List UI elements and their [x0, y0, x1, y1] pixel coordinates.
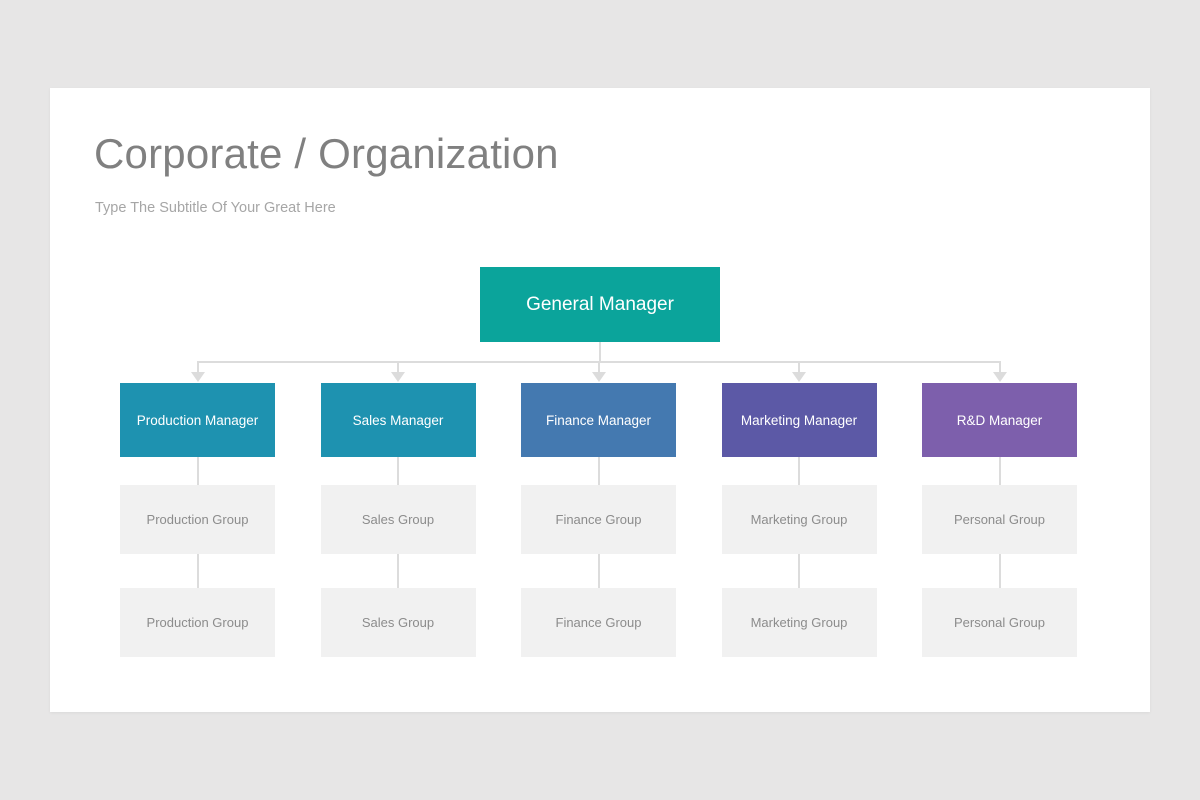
- node-manager[interactable]: Finance Manager: [521, 383, 676, 457]
- connector-manager-group: [197, 457, 199, 485]
- node-group[interactable]: Finance Group: [521, 588, 676, 657]
- arrow-down-icon: [592, 372, 606, 382]
- slide-card: Corporate / Organization Type The Subtit…: [50, 88, 1150, 712]
- arrow-down-icon: [993, 372, 1007, 382]
- node-group[interactable]: Sales Group: [321, 588, 476, 657]
- node-group[interactable]: Production Group: [120, 485, 275, 554]
- node-manager[interactable]: Marketing Manager: [722, 383, 877, 457]
- node-manager[interactable]: Production Manager: [120, 383, 275, 457]
- connector-manager-group: [999, 457, 1001, 485]
- node-group[interactable]: Production Group: [120, 588, 275, 657]
- arrow-down-icon: [792, 372, 806, 382]
- connector-manager-group: [397, 457, 399, 485]
- connector-root-stem: [599, 342, 601, 361]
- connector-group-group: [999, 554, 1001, 588]
- node-group[interactable]: Personal Group: [922, 588, 1077, 657]
- node-general-manager[interactable]: General Manager: [480, 267, 720, 342]
- node-group[interactable]: Sales Group: [321, 485, 476, 554]
- arrow-down-icon: [191, 372, 205, 382]
- node-manager[interactable]: R&D Manager: [922, 383, 1077, 457]
- node-group[interactable]: Finance Group: [521, 485, 676, 554]
- node-manager[interactable]: Sales Manager: [321, 383, 476, 457]
- node-group[interactable]: Marketing Group: [722, 588, 877, 657]
- node-group[interactable]: Marketing Group: [722, 485, 877, 554]
- arrow-down-icon: [391, 372, 405, 382]
- org-chart: General ManagerProduction ManagerProduct…: [50, 88, 1150, 712]
- connector-group-group: [798, 554, 800, 588]
- connector-manager-group: [798, 457, 800, 485]
- node-group[interactable]: Personal Group: [922, 485, 1077, 554]
- connector-group-group: [397, 554, 399, 588]
- connector-group-group: [598, 554, 600, 588]
- connector-group-group: [197, 554, 199, 588]
- connector-manager-group: [598, 457, 600, 485]
